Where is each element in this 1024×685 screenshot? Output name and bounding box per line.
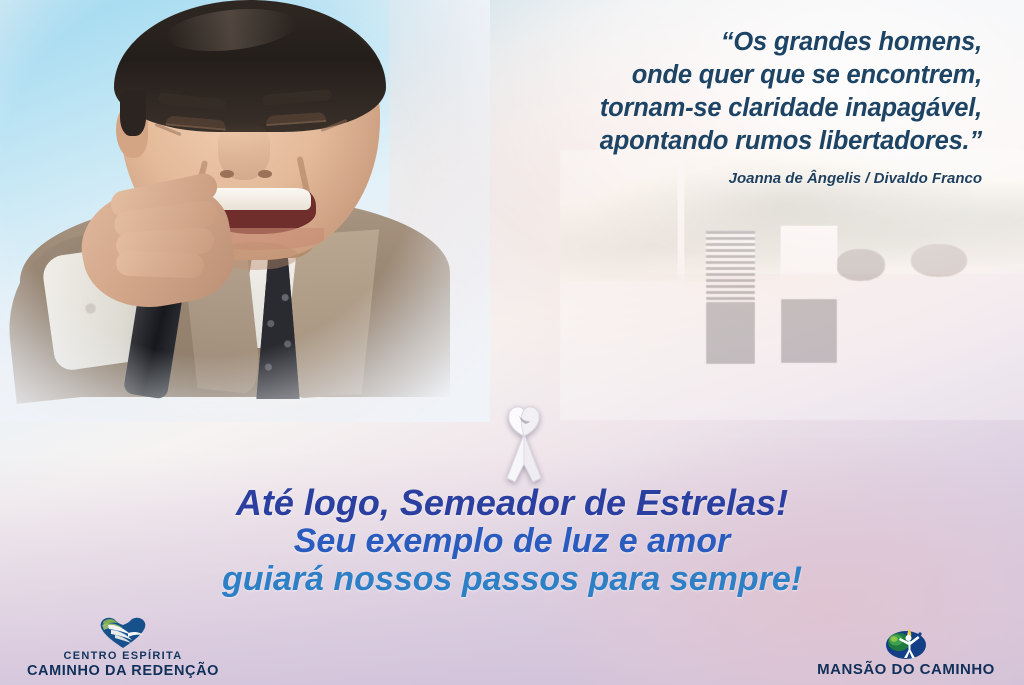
logo-right-line-1: MANSÃO DO CAMINHO xyxy=(796,661,1016,679)
portrait-nostril-right xyxy=(258,170,272,178)
headline-line-3: guiará nossos passos para sempre! xyxy=(0,560,1024,598)
portrait-finger xyxy=(116,250,205,278)
portrait-cuff-button xyxy=(86,304,95,313)
logo-centro-espirita: CENTRO ESPÍRITA CAMINHO DA REDENÇÃO xyxy=(18,614,228,679)
headline-line-1: Até logo, Semeador de Estrelas! xyxy=(0,484,1024,522)
white-mourning-ribbon-icon xyxy=(493,404,555,486)
headline-line-2: Seu exemplo de luz e amor xyxy=(0,522,1024,560)
memorial-poster: “Os grandes homens, onde quer que se enc… xyxy=(0,0,1024,685)
scene-person-white-shirt xyxy=(781,226,837,393)
logo-mansao-do-caminho: MANSÃO DO CAMINHO xyxy=(796,625,1016,679)
quote-text: “Os grandes homens, onde quer que se enc… xyxy=(362,26,982,158)
globe-figure-icon xyxy=(796,625,1016,661)
background-photo-two-men-walking xyxy=(560,150,1024,420)
headline-block: Até logo, Semeador de Estrelas! Seu exem… xyxy=(0,484,1024,598)
portrait-sideburn xyxy=(120,90,146,136)
quote-line: apontando rumos libertadores.” xyxy=(362,125,982,158)
logo-left-line-2: CAMINHO DA REDENÇÃO xyxy=(18,663,228,679)
quote-line: “Os grandes homens, xyxy=(362,26,982,59)
logo-left-line-1: CENTRO ESPÍRITA xyxy=(18,650,228,663)
scene-person-striped-shirt xyxy=(706,231,755,393)
quote-attribution: Joanna de Ângelis / Divaldo Franco xyxy=(362,170,982,187)
quote-line: tornam-se claridade inapagável, xyxy=(362,92,982,125)
heart-hands-icon xyxy=(18,614,228,650)
quote-line: onde quer que se encontrem, xyxy=(362,59,982,92)
portrait-nostril-left xyxy=(220,170,234,178)
